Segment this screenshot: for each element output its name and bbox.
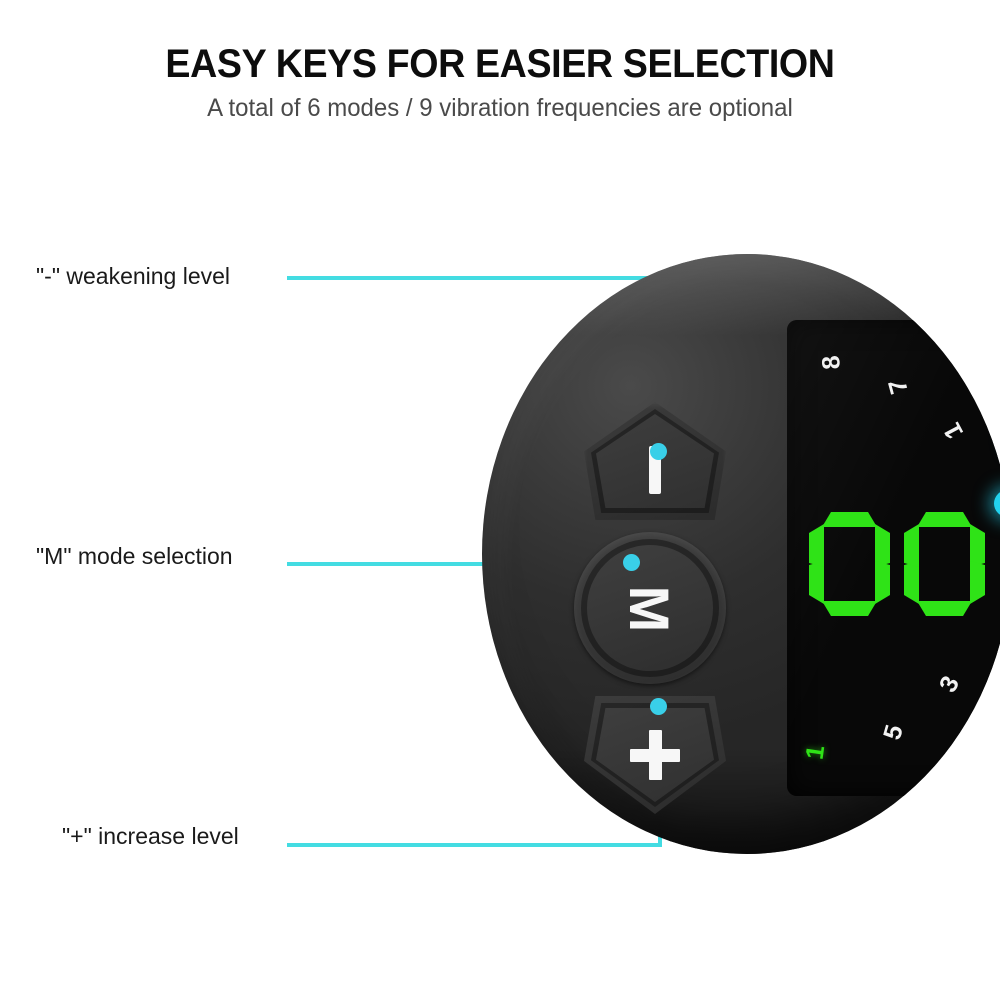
segment-e bbox=[809, 561, 824, 604]
scale-number-1: 1 bbox=[938, 418, 970, 444]
segment-b bbox=[970, 524, 985, 567]
callout-line-plus-horizontal bbox=[287, 843, 662, 847]
segment-b bbox=[875, 524, 890, 567]
page-subtitle: A total of 6 modes / 9 vibration frequen… bbox=[20, 94, 980, 123]
page-title: EASY KEYS FOR EASIER SELECTION bbox=[30, 42, 970, 87]
seven-segment-digit-left bbox=[809, 512, 890, 616]
segment-a bbox=[917, 512, 972, 527]
led-display-panel: 8 7 1 bbox=[787, 320, 1000, 796]
segment-f bbox=[904, 524, 919, 567]
scale-number-7: 7 bbox=[883, 376, 915, 397]
callout-endpoint-plus bbox=[650, 698, 667, 715]
callout-label-plus: "+" increase level bbox=[62, 823, 239, 850]
scale-number-3: 3 bbox=[934, 672, 966, 698]
mode-button[interactable]: M bbox=[574, 532, 726, 684]
callout-endpoint-mode bbox=[623, 554, 640, 571]
segment-e bbox=[904, 561, 919, 604]
segment-a bbox=[822, 512, 877, 527]
segment-c bbox=[970, 561, 985, 604]
led-indicator-3 bbox=[994, 490, 1000, 517]
callout-line-minus-horizontal bbox=[287, 276, 662, 280]
segment-f bbox=[809, 524, 824, 567]
segment-d bbox=[917, 601, 972, 616]
callout-label-minus: "-" weakening level bbox=[36, 263, 230, 290]
mode-letter-icon: M bbox=[574, 532, 726, 684]
segment-d bbox=[822, 601, 877, 616]
scale-number-5: 5 bbox=[878, 722, 910, 743]
plus-icon bbox=[630, 730, 680, 780]
minus-button[interactable] bbox=[584, 402, 726, 520]
callout-endpoint-minus bbox=[650, 443, 667, 460]
seven-segment-display bbox=[809, 512, 985, 616]
active-mode-indicator: 1 bbox=[801, 744, 832, 762]
scale-number-8: 8 bbox=[817, 354, 847, 370]
callout-label-mode: "M" mode selection bbox=[36, 543, 233, 570]
segment-c bbox=[875, 561, 890, 604]
device-body: 8 7 1 bbox=[482, 254, 1000, 854]
seven-segment-digit-right bbox=[904, 512, 985, 616]
infographic-page: EASY KEYS FOR EASIER SELECTION A total o… bbox=[0, 0, 1000, 1000]
